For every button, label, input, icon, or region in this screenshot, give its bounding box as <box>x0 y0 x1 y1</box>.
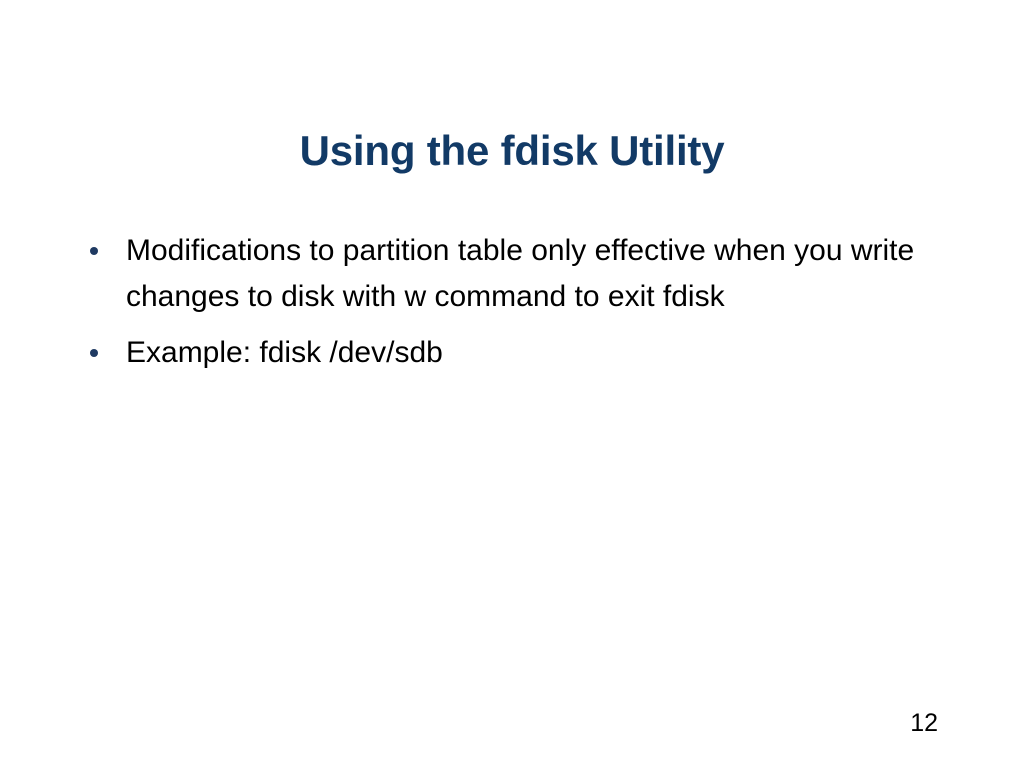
bullet-dot-icon <box>90 228 110 274</box>
slide-body: Modifications to partition table only ef… <box>84 228 964 376</box>
list-item-text: Modifications to partition table only ef… <box>126 228 964 320</box>
bullet-dot-icon <box>90 330 110 376</box>
slide: Using the fdisk Utility Modifications to… <box>0 0 1024 768</box>
page-number: 12 <box>910 711 938 736</box>
page-title: Using the fdisk Utility <box>0 128 1024 174</box>
list-item: Modifications to partition table only ef… <box>84 228 964 320</box>
list-item: Example: fdisk /dev/sdb <box>84 330 964 376</box>
list-item-text: Example: fdisk /dev/sdb <box>126 330 964 376</box>
